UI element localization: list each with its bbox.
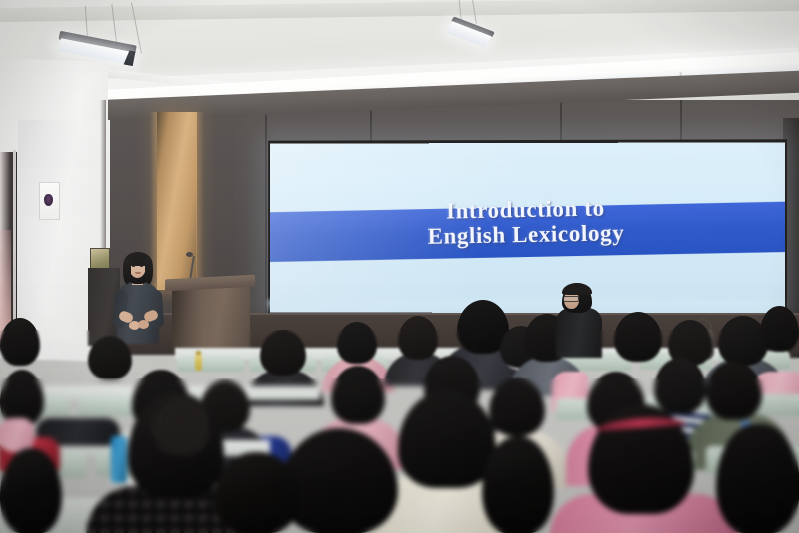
audience-head bbox=[614, 312, 662, 362]
screen-sheen bbox=[270, 142, 785, 313]
lectern-shadow bbox=[172, 286, 202, 348]
audience-head bbox=[398, 316, 438, 360]
presenter-hair-side bbox=[145, 258, 153, 284]
lecture-hall-photo: Introduction to English Lexicology bbox=[0, 0, 799, 533]
presenter-hair-side bbox=[123, 258, 131, 284]
presenter-hand bbox=[138, 320, 149, 329]
door-mullion bbox=[13, 150, 16, 345]
presenter-eye bbox=[140, 265, 143, 267]
audience-head bbox=[706, 362, 762, 420]
accent-column-glow bbox=[196, 112, 204, 292]
audience-head-foreground bbox=[482, 436, 554, 533]
screen-glow bbox=[268, 300, 783, 314]
presenter-arm bbox=[149, 290, 165, 329]
seat bbox=[178, 356, 244, 372]
audience-head-foreground bbox=[214, 452, 300, 533]
glasses-icon bbox=[563, 296, 579, 302]
water-bottle bbox=[111, 436, 127, 483]
audience-head bbox=[337, 322, 377, 364]
audience-head bbox=[0, 318, 40, 366]
audience-clothing bbox=[0, 418, 34, 452]
audience-head-foreground bbox=[716, 424, 799, 533]
audience-head bbox=[654, 358, 706, 414]
microphone-icon bbox=[186, 252, 193, 257]
audience-head bbox=[760, 306, 799, 352]
wall-emblem-icon bbox=[44, 194, 53, 206]
audience-head bbox=[489, 378, 545, 436]
projection-screen: Introduction to English Lexicology bbox=[270, 142, 785, 313]
water-bottle-cap bbox=[196, 351, 201, 355]
audience-hair-bun bbox=[152, 398, 210, 456]
water-bottle bbox=[195, 354, 202, 371]
seated-person-torso bbox=[556, 308, 602, 358]
audience-head bbox=[331, 366, 385, 424]
presenter-eye bbox=[132, 265, 135, 267]
audience-head-foreground bbox=[0, 448, 62, 533]
audience-head bbox=[260, 330, 306, 376]
audience-head bbox=[88, 336, 132, 380]
audience-head-foreground bbox=[398, 390, 496, 488]
